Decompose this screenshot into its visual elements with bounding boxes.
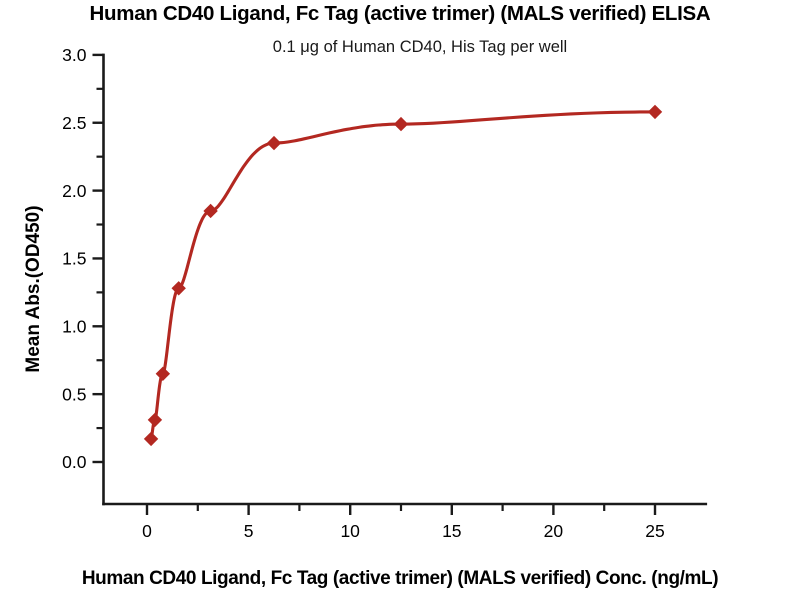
x-tick-label: 15 <box>442 521 461 541</box>
data-curve <box>151 112 655 439</box>
y-tick-label: 3.0 <box>62 45 87 65</box>
plot-area: 0.00.51.01.52.02.53.00510152025 <box>0 0 800 600</box>
data-point-marker <box>394 117 408 131</box>
x-tick-label: 10 <box>340 521 360 541</box>
y-tick-label: 0.0 <box>62 452 87 472</box>
x-tick-label: 20 <box>544 521 564 541</box>
data-point-marker <box>148 413 162 427</box>
x-tick-label: 0 <box>142 521 152 541</box>
y-tick-label: 2.5 <box>62 113 86 133</box>
x-tick-label: 25 <box>645 521 664 541</box>
data-point-marker <box>144 432 158 446</box>
tick-label-group: 0.00.51.01.52.02.53.00510152025 <box>62 45 665 541</box>
data-point-marker <box>648 105 662 119</box>
y-tick-label: 0.5 <box>62 384 86 404</box>
series-group <box>144 105 662 446</box>
elisa-chart: Human CD40 Ligand, Fc Tag (active trimer… <box>0 0 800 600</box>
y-tick-label: 1.0 <box>62 317 87 337</box>
data-point-marker <box>156 367 170 381</box>
y-tick-label: 1.5 <box>62 249 86 269</box>
x-tick-label: 5 <box>244 521 254 541</box>
y-tick-label: 2.0 <box>62 181 87 201</box>
data-point-marker <box>267 136 281 150</box>
